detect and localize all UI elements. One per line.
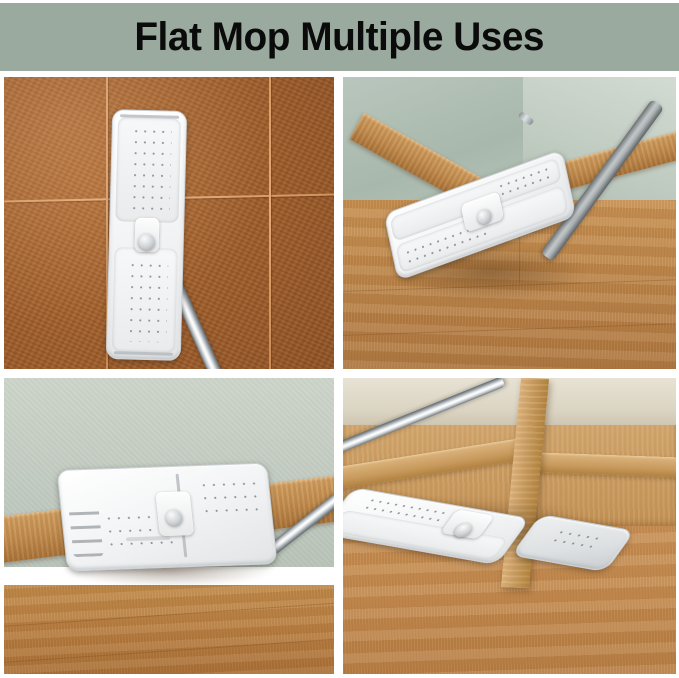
gutter-bottom-margin: [0, 674, 679, 678]
mop-perforations-right: [198, 477, 264, 519]
mop-perforations-lower: [126, 260, 168, 343]
scene-oak-floor-corner: [343, 77, 676, 369]
header-banner: Flat Mop Multiple Uses: [0, 3, 679, 71]
gutter-left-margin: [0, 77, 4, 678]
panel-under-furniture: Under Furniture: [343, 378, 676, 674]
panel-grid: Walls/Windows: [0, 77, 679, 678]
header-bottom-margin: [0, 71, 679, 77]
mop-perforations-upper: [130, 126, 172, 213]
scene-under-furniture: [343, 378, 676, 674]
flat-mop-head: [56, 463, 277, 572]
product-infographic: Flat Mop Multiple Uses: [0, 0, 679, 678]
mop-back-slots: [69, 508, 104, 557]
panel-corners: Corners: [343, 77, 676, 369]
scene-baseboard: [4, 378, 334, 674]
flat-mop-head: [106, 109, 188, 361]
scene-terracotta-tile-wall: [4, 77, 334, 369]
panel-walls-windows: Walls/Windows: [4, 77, 334, 369]
top-margin: [0, 0, 679, 3]
gutter-horizontal: [0, 369, 679, 378]
furniture-upholstery: [343, 378, 676, 425]
panel-baseboard: Baseboard: [4, 378, 334, 674]
wood-floor: [4, 585, 334, 674]
page-title: Flat Mop Multiple Uses: [135, 17, 545, 57]
